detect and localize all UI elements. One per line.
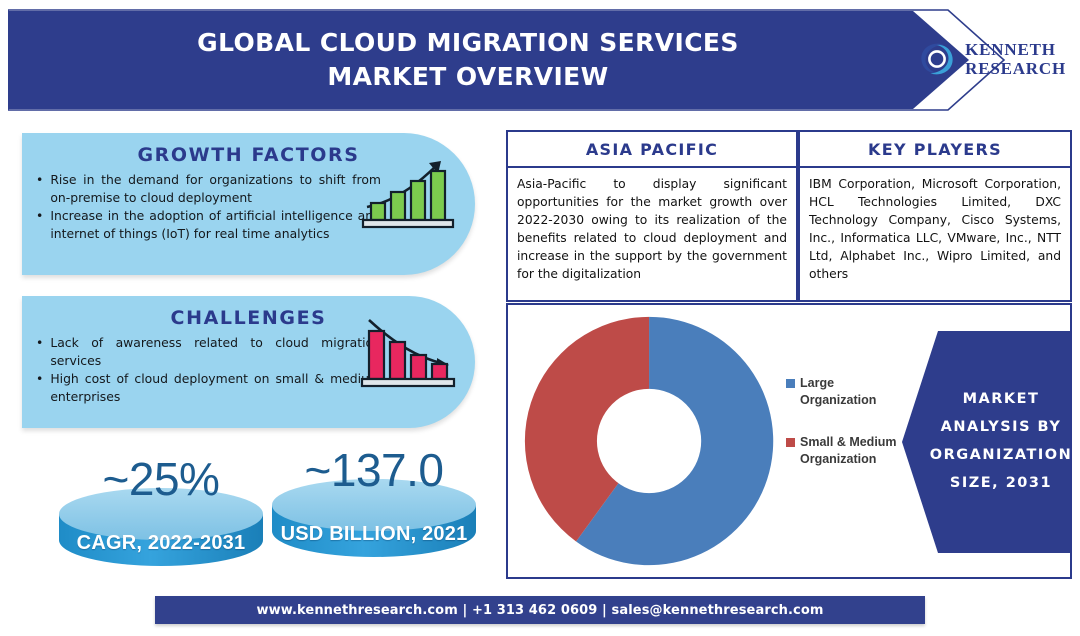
stat-label: USD BILLION, 2021 bbox=[270, 523, 478, 546]
list-item-text: Increase in the adoption of artificial i… bbox=[50, 207, 381, 242]
callout-line4: SIZE, 2031 bbox=[950, 476, 1052, 492]
list-item: • Increase in the adoption of artificial… bbox=[36, 207, 381, 242]
list-item: • Lack of awareness related to cloud mig… bbox=[36, 334, 381, 369]
donut-hole bbox=[597, 389, 701, 493]
footer-contact-bar[interactable]: www.kennethresearch.com | +1 313 462 060… bbox=[155, 596, 925, 624]
brand-logo-line2: RESEARCH bbox=[965, 59, 1066, 78]
legend-item[interactable]: Small & Medium Organization bbox=[786, 434, 904, 467]
chart-callout-banner: MARKET ANALYSIS BY ORGANIZATION SIZE, 20… bbox=[902, 331, 1070, 553]
stat-cylinder-market-size: ~137.0 USD BILLION, 2021 bbox=[270, 443, 478, 559]
legend-swatch-icon bbox=[786, 379, 795, 388]
callout-line1: MARKET bbox=[963, 392, 1040, 408]
asia-pacific-panel: ASIA PACIFIC Asia-Pacific to display sig… bbox=[506, 130, 798, 302]
list-item-text: Rise in the demand for organizations to … bbox=[50, 171, 381, 206]
page-title-line1: GLOBAL CLOUD MIGRATION SERVICES bbox=[197, 28, 739, 59]
bullet-icon: • bbox=[36, 207, 43, 242]
stat-cylinder-cagr: ~25% CAGR, 2022-2031 bbox=[57, 452, 265, 568]
list-item-text: High cost of cloud deployment on small &… bbox=[50, 370, 381, 405]
asia-pacific-heading: ASIA PACIFIC bbox=[508, 132, 796, 168]
page-title: GLOBAL CLOUD MIGRATION SERVICES MARKET O… bbox=[68, 8, 868, 112]
organization-size-chart-panel: Large Organization Small & Medium Organi… bbox=[506, 303, 1072, 579]
list-item: • High cost of cloud deployment on small… bbox=[36, 370, 381, 405]
chart-callout-text: MARKET ANALYSIS BY ORGANIZATION SIZE, 20… bbox=[932, 331, 1070, 553]
bullet-icon: • bbox=[36, 334, 43, 369]
growth-factors-list: • Rise in the demand for organizations t… bbox=[22, 166, 381, 242]
bullet-icon: • bbox=[36, 171, 43, 206]
stat-label: CAGR, 2022-2031 bbox=[57, 532, 265, 555]
brand-logo[interactable]: KENNETH RESEARCH bbox=[916, 38, 1066, 80]
list-item-text: Lack of awareness related to cloud migra… bbox=[50, 334, 381, 369]
brand-logo-text: KENNETH RESEARCH bbox=[965, 40, 1066, 78]
key-players-heading: KEY PLAYERS bbox=[800, 132, 1070, 168]
callout-line3: ORGANIZATION bbox=[930, 448, 1073, 464]
header-banner: GLOBAL CLOUD MIGRATION SERVICES MARKET O… bbox=[8, 8, 1072, 112]
legend-swatch-icon bbox=[786, 438, 795, 447]
asia-pacific-body: Asia-Pacific to display significant oppo… bbox=[508, 168, 796, 290]
list-item: • Rise in the demand for organizations t… bbox=[36, 171, 381, 206]
key-players-panel: KEY PLAYERS IBM Corporation, Microsoft C… bbox=[798, 130, 1072, 302]
callout-line2: ANALYSIS BY bbox=[941, 420, 1062, 436]
key-players-body: IBM Corporation, Microsoft Corporation, … bbox=[800, 168, 1070, 290]
bullet-icon: • bbox=[36, 370, 43, 405]
challenges-card: CHALLENGES • Lack of awareness related t… bbox=[22, 296, 475, 428]
descending-bar-chart-icon bbox=[359, 314, 457, 392]
challenges-list: • Lack of awareness related to cloud mig… bbox=[22, 329, 381, 405]
legend-label: Small & Medium Organization bbox=[800, 434, 904, 467]
growth-factors-card: GROWTH FACTORS • Rise in the demand for … bbox=[22, 133, 475, 275]
page-title-line2: MARKET OVERVIEW bbox=[327, 62, 608, 93]
footer-text: www.kennethresearch.com | +1 313 462 060… bbox=[256, 603, 823, 618]
swirl-logo-icon bbox=[916, 38, 958, 80]
legend-item[interactable]: Large Organization bbox=[786, 375, 904, 408]
ascending-bar-chart-icon bbox=[359, 155, 457, 233]
legend-label: Large Organization bbox=[800, 375, 904, 408]
chart-legend: Large Organization Small & Medium Organi… bbox=[786, 375, 904, 493]
brand-logo-line1: KENNETH bbox=[965, 40, 1066, 59]
